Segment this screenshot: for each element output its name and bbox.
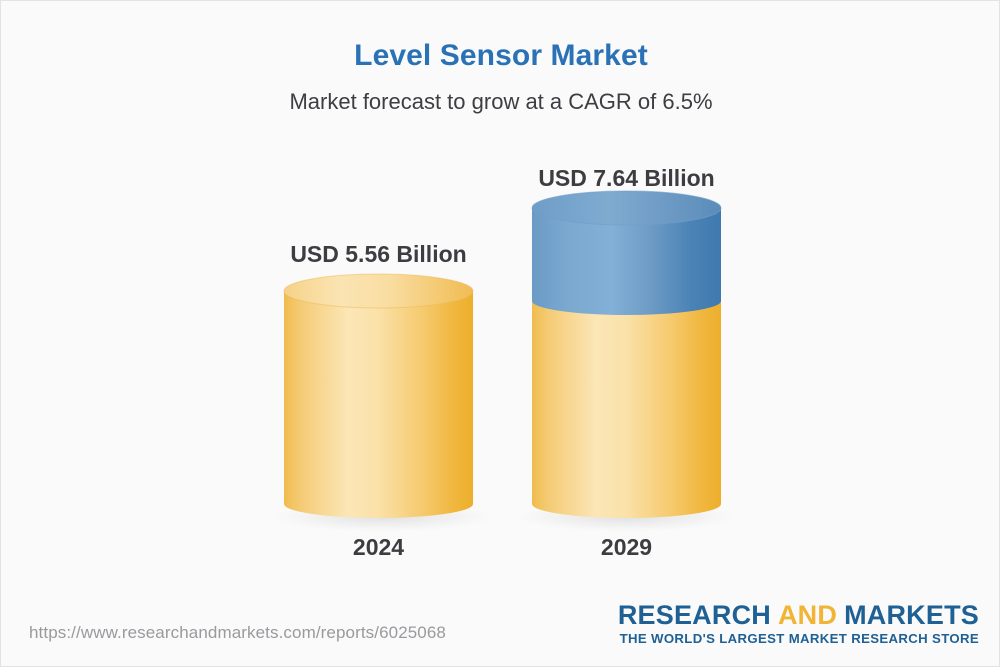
plot-area: USD 5.56 Billion USD 7.64 Billion 2024 2… — [1, 1, 1000, 601]
logo-word-and: AND — [778, 600, 837, 630]
value-label-2024: USD 5.56 Billion — [284, 241, 473, 268]
logo-wordmark: RESEARCHANDMARKETS — [618, 601, 979, 629]
brand-logo[interactable]: RESEARCHANDMARKETS THE WORLD'S LARGEST M… — [618, 601, 979, 646]
logo-word-markets: MARKETS — [844, 600, 979, 630]
value-label-2029: USD 7.64 Billion — [532, 165, 721, 192]
chart-frame: Level Sensor Market Market forecast to g… — [0, 0, 1000, 667]
logo-word-research: RESEARCH — [618, 600, 771, 630]
source-url[interactable]: https://www.researchandmarkets.com/repor… — [29, 623, 446, 643]
category-label-2024: 2024 — [284, 534, 473, 561]
bar-cylinder-2024 — [284, 274, 473, 518]
cylinder-bars-svg — [1, 1, 1000, 601]
category-label-2029: 2029 — [532, 534, 721, 561]
logo-tagline: THE WORLD'S LARGEST MARKET RESEARCH STOR… — [618, 631, 979, 646]
bar-cylinder-2029 — [532, 191, 721, 518]
